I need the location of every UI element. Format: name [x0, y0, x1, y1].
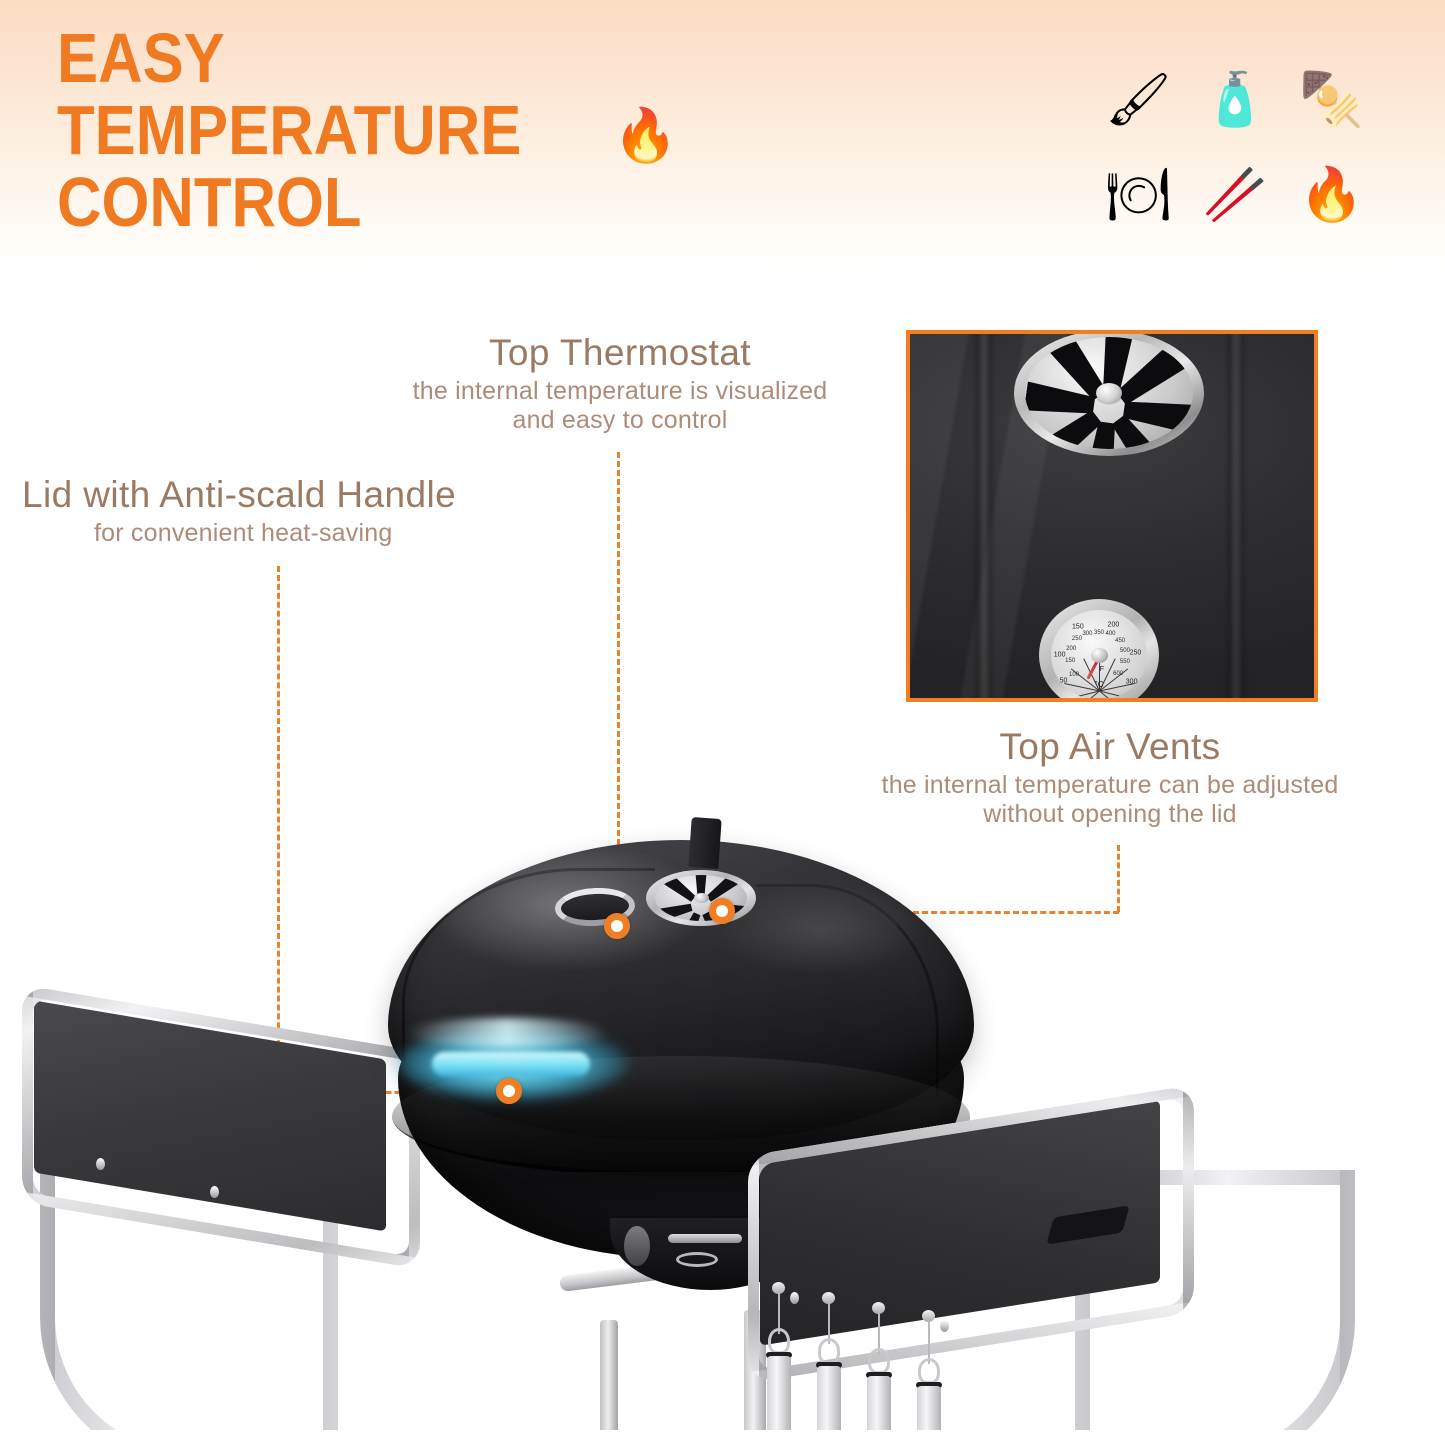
callout-title: Top Air Vents: [800, 726, 1420, 767]
tool-hanging-loop: [918, 1358, 940, 1384]
thermometer-f-label: 300: [1082, 631, 1092, 637]
table-rivet: [790, 1292, 799, 1304]
thermometer-f-label: 550: [1120, 659, 1130, 665]
thermometer-f-label: 600: [1113, 671, 1123, 677]
thermometer-f-label: 450: [1115, 638, 1125, 644]
marker-top-thermostat[interactable]: [604, 913, 630, 939]
thermometer-f-label: 250: [1072, 636, 1082, 642]
bottom-vent-hole: [624, 1226, 650, 1266]
thermometer-unit-c: °C: [1095, 680, 1104, 689]
thermometer-c-label: 150: [1072, 624, 1084, 631]
thermometer-f-label: 350: [1094, 630, 1104, 636]
callout-subtitle: the internal temperature can be adjusted…: [800, 771, 1420, 829]
lid-top-tab-handle[interactable]: [688, 817, 721, 869]
flame-icon: 🔥: [613, 110, 678, 162]
bottom-vent-ring: [676, 1252, 718, 1267]
accessory-icon-grid: 🖌 🧴 🍢 🍽 🥢 🔥: [1090, 52, 1380, 242]
center-leg-frame-2: [600, 1320, 618, 1445]
callout-title: Top Thermostat: [330, 332, 910, 373]
tool-hanging-loop: [818, 1338, 840, 1364]
vent-hub-screw: [1096, 383, 1122, 403]
thermometer-f-label: 500: [1120, 648, 1130, 654]
bottom-vent-damper-lever[interactable]: [668, 1234, 742, 1243]
anti-scald-handle-sheen: [404, 1018, 610, 1048]
callout-subtitle: the internal temperature is visualized a…: [330, 377, 910, 435]
thermometer-c-label: 250: [1130, 650, 1142, 657]
campfire-icon: 🔥: [1299, 169, 1364, 221]
page-title: EASY TEMPERATURE CONTROL: [57, 22, 673, 238]
tool-hanging-loop: [768, 1328, 790, 1354]
thermometer-face: 50 100 150 200 250 300 100 150 200 250 3…: [1051, 610, 1147, 700]
tongs-icon: 🥢: [1203, 169, 1268, 221]
thermometer-f-label: 200: [1066, 646, 1076, 652]
anti-scald-handle[interactable]: [432, 1052, 590, 1076]
callout-lid-handle: Lid with Anti-scald Handle for convenien…: [8, 474, 568, 548]
callout-top-thermostat: Top Thermostat the internal temperature …: [330, 332, 910, 435]
inset-thermometer-gauge: 50 100 150 200 250 300 100 150 200 250 3…: [1039, 599, 1159, 702]
thermometer-c-label: 100: [1054, 652, 1066, 659]
thermometer-c-label: 200: [1108, 622, 1120, 629]
marker-anti-scald-handle[interactable]: [496, 1078, 522, 1104]
thermometer-pivot: [1091, 648, 1108, 663]
thermometer-f-label: 150: [1065, 658, 1075, 664]
basting-brush-icon: 🖌: [1105, 74, 1171, 126]
inset-lid-ridge-right: [1228, 330, 1244, 702]
bottom-edge: [0, 1430, 1445, 1445]
thermometer-c-label: 300: [1126, 679, 1138, 686]
thermometer-f-label: 400: [1106, 631, 1116, 637]
callout-subtitle: for convenient heat-saving: [8, 519, 568, 548]
inset-photo-vent-thermostat: 50 100 150 200 250 300 100 150 200 250 3…: [906, 330, 1318, 702]
table-rivet: [210, 1186, 219, 1198]
callout-top-air-vents: Top Air Vents the internal temperature c…: [800, 726, 1420, 829]
marker-top-air-vents[interactable]: [709, 898, 735, 924]
tool-hanging-loop: [868, 1348, 890, 1374]
thermometer-c-label: 50: [1060, 678, 1068, 685]
inset-air-vent-icon: [1014, 330, 1204, 456]
lid-vent-hub: [694, 893, 709, 903]
table-rivet: [96, 1158, 105, 1170]
kebab-skewers-icon: 🍢: [1299, 74, 1364, 126]
infographic-canvas: EASY TEMPERATURE CONTROL 🔥 🖌 🧴 🍢 🍽 🥢 🔥 T…: [0, 0, 1445, 1445]
callout-title: Lid with Anti-scald Handle: [8, 474, 568, 515]
thermometer-f-label: 100: [1069, 672, 1079, 678]
lid-air-vent[interactable]: [646, 870, 756, 926]
plate-icon: 🍽: [1105, 169, 1171, 221]
thermometer-unit-f: F: [1100, 666, 1104, 673]
table-rivet: [940, 1320, 949, 1332]
product-illustration: [0, 840, 1445, 1445]
inset-lid-ridge-left: [976, 330, 992, 702]
sauce-bottle-icon: 🧴: [1203, 74, 1268, 126]
